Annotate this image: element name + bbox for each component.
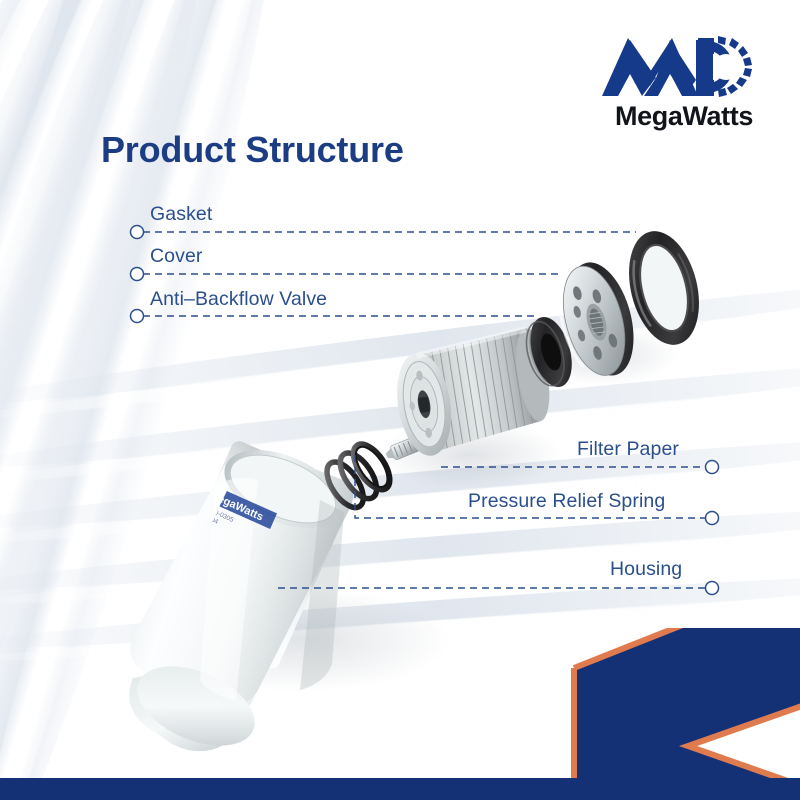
circle-marker-cover[interactable]	[131, 268, 144, 281]
callout-label-pressure-relief-spring: Pressure Relief Spring	[468, 490, 665, 513]
circle-marker-pressure-relief-spring[interactable]	[706, 512, 719, 525]
circle-marker-anti-backflow-valve[interactable]	[131, 310, 144, 323]
callout-label-filter-paper: Filter Paper	[577, 438, 679, 461]
callout-leader-lines	[0, 0, 800, 800]
callout-label-anti-backflow-valve: Anti–Backflow Valve	[150, 288, 327, 311]
callout-label-housing: Housing	[610, 558, 682, 581]
circle-marker-gasket[interactable]	[131, 226, 144, 239]
product-structure-infographic: MegaWatts MW0-0305 LF504 MegaWatts	[0, 0, 800, 800]
callout-label-gasket: Gasket	[150, 203, 212, 226]
callout-label-cover: Cover	[150, 245, 203, 268]
circle-marker-filter-paper[interactable]	[706, 461, 719, 474]
circle-marker-housing[interactable]	[706, 582, 719, 595]
